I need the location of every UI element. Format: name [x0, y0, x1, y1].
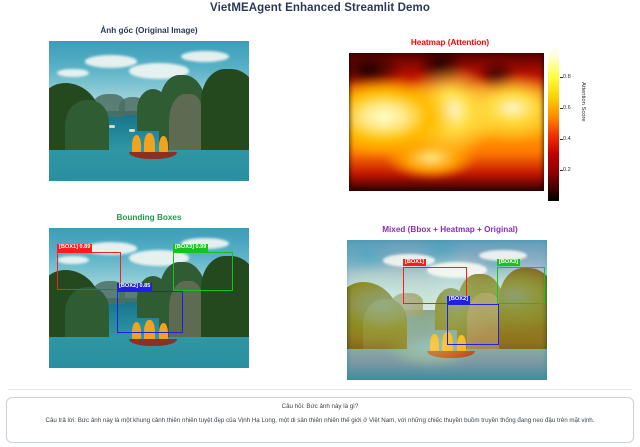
- colorbar-ticks: 0.8 0.6 0.4 0.2: [548, 46, 559, 201]
- bbox-box1[interactable]: [BOX1] 0.89: [57, 252, 121, 290]
- sail: [159, 136, 169, 153]
- panel-original-image: Ảnh gốc (Original Image): [44, 26, 254, 181]
- cloud: [85, 55, 137, 68]
- panel-title-heatmap: Heatmap (Attention): [340, 38, 560, 47]
- bbox-label-box3: [BOX3] 0.99: [173, 244, 208, 252]
- karst-left2: [65, 287, 109, 337]
- junk-boat: [129, 133, 177, 161]
- panel-title-mixed: Mixed (Bbox + Heatmap + Original): [340, 225, 560, 234]
- colorbar-tick: 0.2: [563, 167, 571, 173]
- mixed-image: [BOX1] [BOX2] [BOX3]: [347, 240, 547, 380]
- colorbar-tick: 0.8: [563, 74, 571, 80]
- colorbar-tick: 0.4: [563, 136, 571, 142]
- small-boat: [109, 125, 115, 128]
- sail: [144, 133, 155, 153]
- colorbar-tick: 0.6: [563, 105, 571, 111]
- panel-heatmap: Heatmap (Attention): [340, 38, 560, 191]
- answer-text: Câu trả lời: Bức ảnh này là một khung cả…: [17, 416, 623, 425]
- hull: [129, 152, 177, 159]
- karst-left2: [65, 100, 109, 150]
- attention-heatmap: [349, 53, 544, 191]
- karst-right: [201, 69, 249, 150]
- bbox-box3[interactable]: [BOX3] 0.99: [173, 252, 233, 291]
- bbox-box2[interactable]: [BOX2] 0.85: [117, 291, 183, 333]
- bbox-box3[interactable]: [BOX3]: [497, 267, 545, 305]
- bbox-label-box2: [BOX2]: [447, 296, 470, 304]
- bbox-label-box2: [BOX2] 0.85: [117, 283, 152, 291]
- panel-title-original: Ảnh gốc (Original Image): [44, 26, 254, 35]
- sail: [132, 135, 142, 152]
- panel-mixed: Mixed (Bbox + Heatmap + Original) [BOX1]…: [340, 225, 560, 380]
- panel-bounding-boxes: Bounding Boxes [BOX1] 0.89 [BOX2] 0.85 […: [44, 213, 254, 368]
- colorbar-axis-label: Attention Score: [580, 82, 586, 122]
- panel-title-bboxes: Bounding Boxes: [44, 213, 254, 222]
- bbox-label-box1: [BOX1] 0.89: [57, 244, 92, 252]
- hull: [129, 339, 177, 346]
- section-divider: [8, 389, 632, 390]
- question-text: Câu hỏi: Bức ảnh này là gì?: [17, 403, 623, 410]
- bbox-box2[interactable]: [BOX2]: [447, 304, 499, 345]
- karst-mid: [137, 89, 169, 131]
- qa-result-box: Câu hỏi: Bức ảnh này là gì? Câu trả lời:…: [6, 397, 634, 443]
- bbox-image: [BOX1] 0.89 [BOX2] 0.85 [BOX3] 0.99: [49, 228, 249, 368]
- heatmap-field: [349, 53, 544, 191]
- bbox-label-box3: [BOX3]: [497, 259, 520, 267]
- original-image: [49, 41, 249, 181]
- bbox-label-box1: [BOX1]: [403, 259, 426, 267]
- small-boat: [129, 129, 135, 132]
- cloud: [181, 51, 229, 62]
- page-title: VietMEAgent Enhanced Streamlit Demo: [0, 2, 640, 14]
